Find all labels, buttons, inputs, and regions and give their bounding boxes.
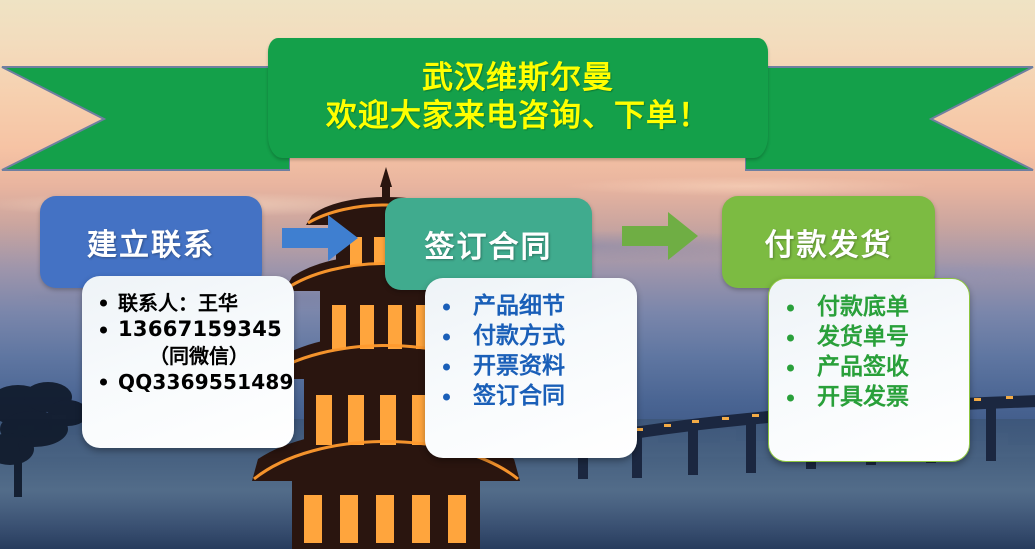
step2-title: 签订合同 <box>425 222 553 266</box>
list-item: 付款底单 <box>783 293 959 323</box>
contact-list: 联系人：王华 13667159345 （同微信） QQ3369551489 <box>96 290 284 395</box>
arrow-step1-to-step2-icon <box>282 215 358 261</box>
list-item: 13667159345 <box>96 316 284 343</box>
poster-canvas: 武汉维斯尔曼 欢迎大家来电咨询、下单！ 建立联系 联系人：王华 13667159… <box>0 0 1035 549</box>
list-item: 联系人：王华 <box>96 290 284 316</box>
shipping-list: 付款底单 发货单号 产品签收 开具发票 <box>783 293 959 413</box>
list-item: （同微信） <box>96 343 284 369</box>
step-header-payment-shipping[interactable]: 付款发货 <box>722 196 935 288</box>
arrow-step2-to-step3-icon <box>622 212 698 260</box>
list-item: QQ3369551489 <box>96 369 284 395</box>
step-card-contract-details: 产品细节 付款方式 开票资料 签订合同 <box>425 278 637 458</box>
list-item: 付款方式 <box>439 322 627 352</box>
step-header-sign-contract[interactable]: 签订合同 <box>385 198 592 290</box>
banner-center-panel: 武汉维斯尔曼 欢迎大家来电咨询、下单！ <box>268 38 768 158</box>
list-item: 开票资料 <box>439 352 627 382</box>
list-item: 产品签收 <box>783 353 959 383</box>
step3-title: 付款发货 <box>765 220 893 264</box>
list-item: 开具发票 <box>783 383 959 413</box>
banner-company-name: 武汉维斯尔曼 <box>422 60 614 98</box>
banner-subtitle: 欢迎大家来电咨询、下单！ <box>326 98 710 136</box>
step-card-shipping-details: 付款底单 发货单号 产品签收 开具发票 <box>768 278 970 462</box>
step1-title: 建立联系 <box>87 220 215 264</box>
ribbon-tail-left-icon <box>0 65 290 172</box>
list-item: 发货单号 <box>783 323 959 353</box>
list-item: 签订合同 <box>439 382 627 412</box>
list-item: 产品细节 <box>439 292 627 322</box>
banner-ribbon: 武汉维斯尔曼 欢迎大家来电咨询、下单！ <box>0 38 1035 174</box>
step-header-establish-contact[interactable]: 建立联系 <box>40 196 262 288</box>
step-card-contact-details: 联系人：王华 13667159345 （同微信） QQ3369551489 <box>82 276 294 448</box>
ribbon-tail-right-icon <box>745 65 1035 172</box>
contract-list: 产品细节 付款方式 开票资料 签订合同 <box>439 292 627 412</box>
